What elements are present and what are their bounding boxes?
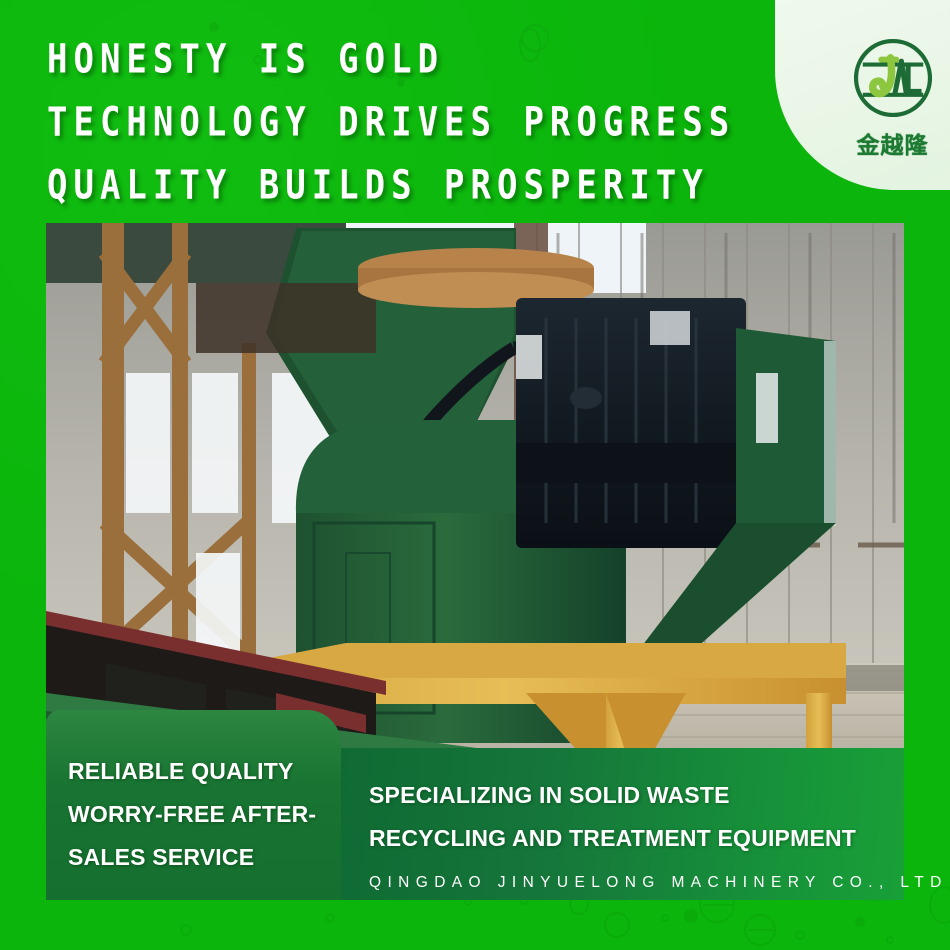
jyl-circle-monogram-logo <box>851 36 935 120</box>
headline-line-2: TECHNOLOGY DRIVES PROGRESS <box>47 93 747 152</box>
headline-line-1: HONESTY IS GOLD <box>47 30 747 89</box>
business-description-box: SPECIALIZING IN SOLID WASTE RECYCLING AN… <box>341 748 904 900</box>
logo-chinese-name: 金越隆 <box>857 126 929 160</box>
headline-line-3: QUALITY BUILDS PROSPERITY <box>47 156 747 215</box>
factory-machinery-illustration <box>46 223 904 750</box>
promise-line-1: RELIABLE QUALITY <box>68 750 341 793</box>
promotional-banner: 金越隆 HONESTY IS GOLD TECHNOLOGY DRIVES PR… <box>0 0 950 950</box>
headline-block: HONESTY IS GOLD TECHNOLOGY DRIVES PROGRE… <box>47 30 747 206</box>
business-line-1: SPECIALIZING IN SOLID WASTE <box>369 774 904 817</box>
promise-line-2: WORRY-FREE AFTER- <box>68 793 341 836</box>
business-line-2: RECYCLING AND TREATMENT EQUIPMENT <box>369 817 904 860</box>
promise-line-3: SALES SERVICE <box>68 836 341 879</box>
product-photo <box>46 223 904 750</box>
service-promise-box: RELIABLE QUALITY WORRY-FREE AFTER- SALES… <box>46 710 341 900</box>
company-name: QINGDAO JINYUELONG MACHINERY CO., LTD <box>369 874 904 892</box>
brand-logo-panel: 金越隆 <box>775 0 950 190</box>
